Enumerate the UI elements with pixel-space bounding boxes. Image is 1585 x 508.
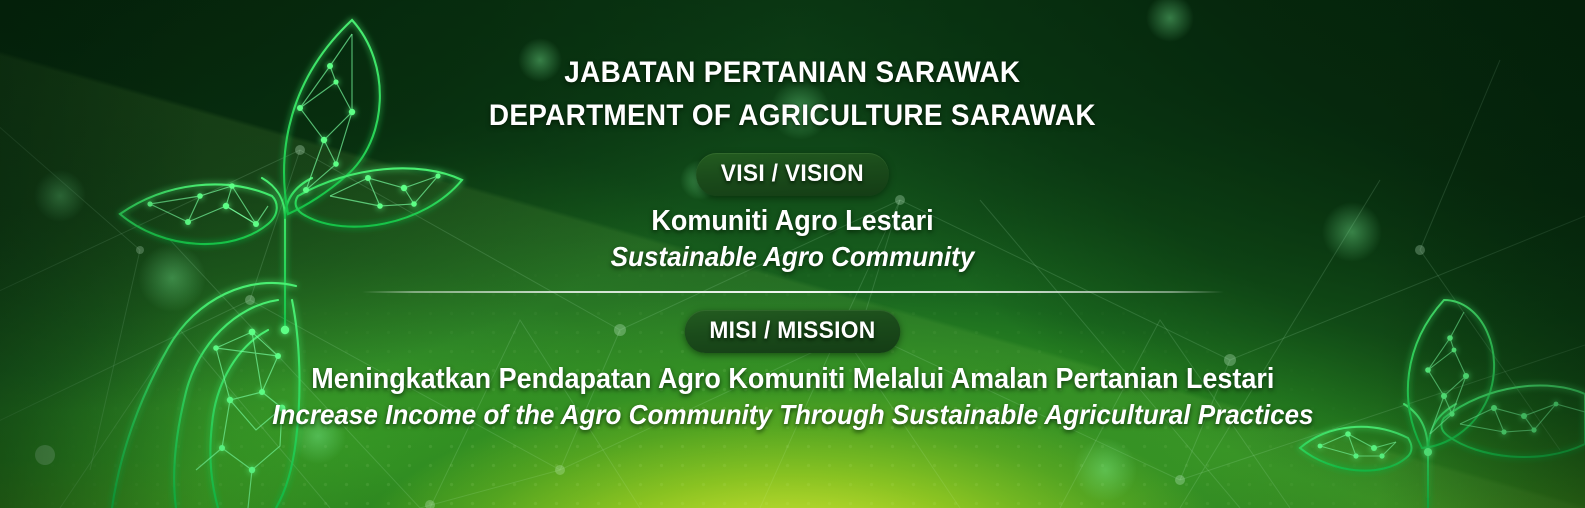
mission-badge: MISI / MISSION <box>685 310 901 353</box>
vision-text-native: Komuniti Agro Lestari <box>611 205 975 238</box>
title-english: DEPARTMENT OF AGRICULTURE SARAWAK <box>489 95 1096 138</box>
mission-section: MISI / MISSION Meningkatkan Pendapatan A… <box>233 310 1353 431</box>
section-divider <box>362 291 1224 293</box>
mission-text-english: Increase Income of the Agro Community Th… <box>272 399 1313 431</box>
vision-section: VISI / VISION Komuniti Agro Lestari Sust… <box>597 153 988 273</box>
vision-badge: VISI / VISION <box>696 153 888 196</box>
vision-text-english: Sustainable Agro Community <box>611 241 975 273</box>
mission-text-native: Meningkatkan Pendapatan Agro Komuniti Me… <box>272 363 1313 396</box>
banner-content: JABATAN PERTANIAN SARAWAK DEPARTMENT OF … <box>0 0 1585 508</box>
title-native: JABATAN PERTANIAN SARAWAK <box>489 52 1096 95</box>
page-title: JABATAN PERTANIAN SARAWAK DEPARTMENT OF … <box>466 52 1119 137</box>
vision-mission-banner: JABATAN PERTANIAN SARAWAK DEPARTMENT OF … <box>0 0 1585 508</box>
